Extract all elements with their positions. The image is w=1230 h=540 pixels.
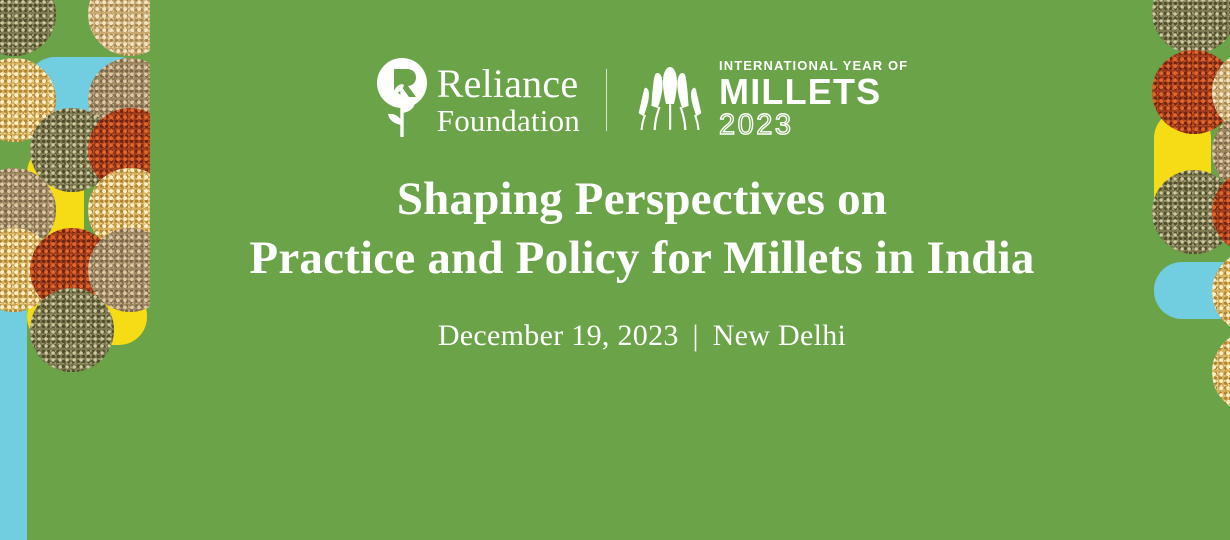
grain-circle [88, 0, 150, 56]
grain-circle [1212, 330, 1230, 414]
millets-wordmark-text: MILLETS [719, 75, 908, 109]
reliance-foundation-wordmark: Reliance Foundation [437, 63, 580, 136]
left-decorative-panel [0, 0, 150, 540]
event-location: New Delhi [713, 319, 847, 352]
event-details: December 19, 2023 | New Delhi [150, 319, 1134, 353]
millet-stalks-icon [633, 59, 707, 142]
reliance-wordmark-line1: Reliance [437, 63, 580, 104]
grain-circle [30, 288, 114, 372]
event-details-separator: | [687, 319, 705, 352]
page-title-line2: Practice and Policy for Millets in India [150, 229, 1134, 288]
reliance-wordmark-line2: Foundation [437, 105, 580, 137]
vertical-divider [606, 69, 607, 131]
millets-wordmark: INTERNATIONAL YEAR OF MILLETS 2023 [719, 59, 908, 141]
international-year-of-millets-logo: INTERNATIONAL YEAR OF MILLETS 2023 [633, 59, 908, 142]
page-title: Shaping Perspectives on Practice and Pol… [150, 170, 1134, 288]
grain-circle [1152, 0, 1230, 54]
millets-year-text: 2023 [719, 110, 908, 140]
grain-circle [0, 0, 56, 56]
event-date: December 19, 2023 [438, 319, 679, 352]
logo-row: Reliance Foundation [150, 0, 1134, 142]
reliance-foundation-sapling-icon [376, 57, 428, 144]
right-decorative-panel [1134, 0, 1230, 540]
reliance-foundation-logo: Reliance Foundation [376, 57, 580, 144]
blue-bar-left [0, 285, 27, 540]
page-title-line1: Shaping Perspectives on [150, 170, 1134, 229]
event-banner: Reliance Foundation [0, 0, 1230, 540]
banner-content: Reliance Foundation [150, 0, 1134, 353]
